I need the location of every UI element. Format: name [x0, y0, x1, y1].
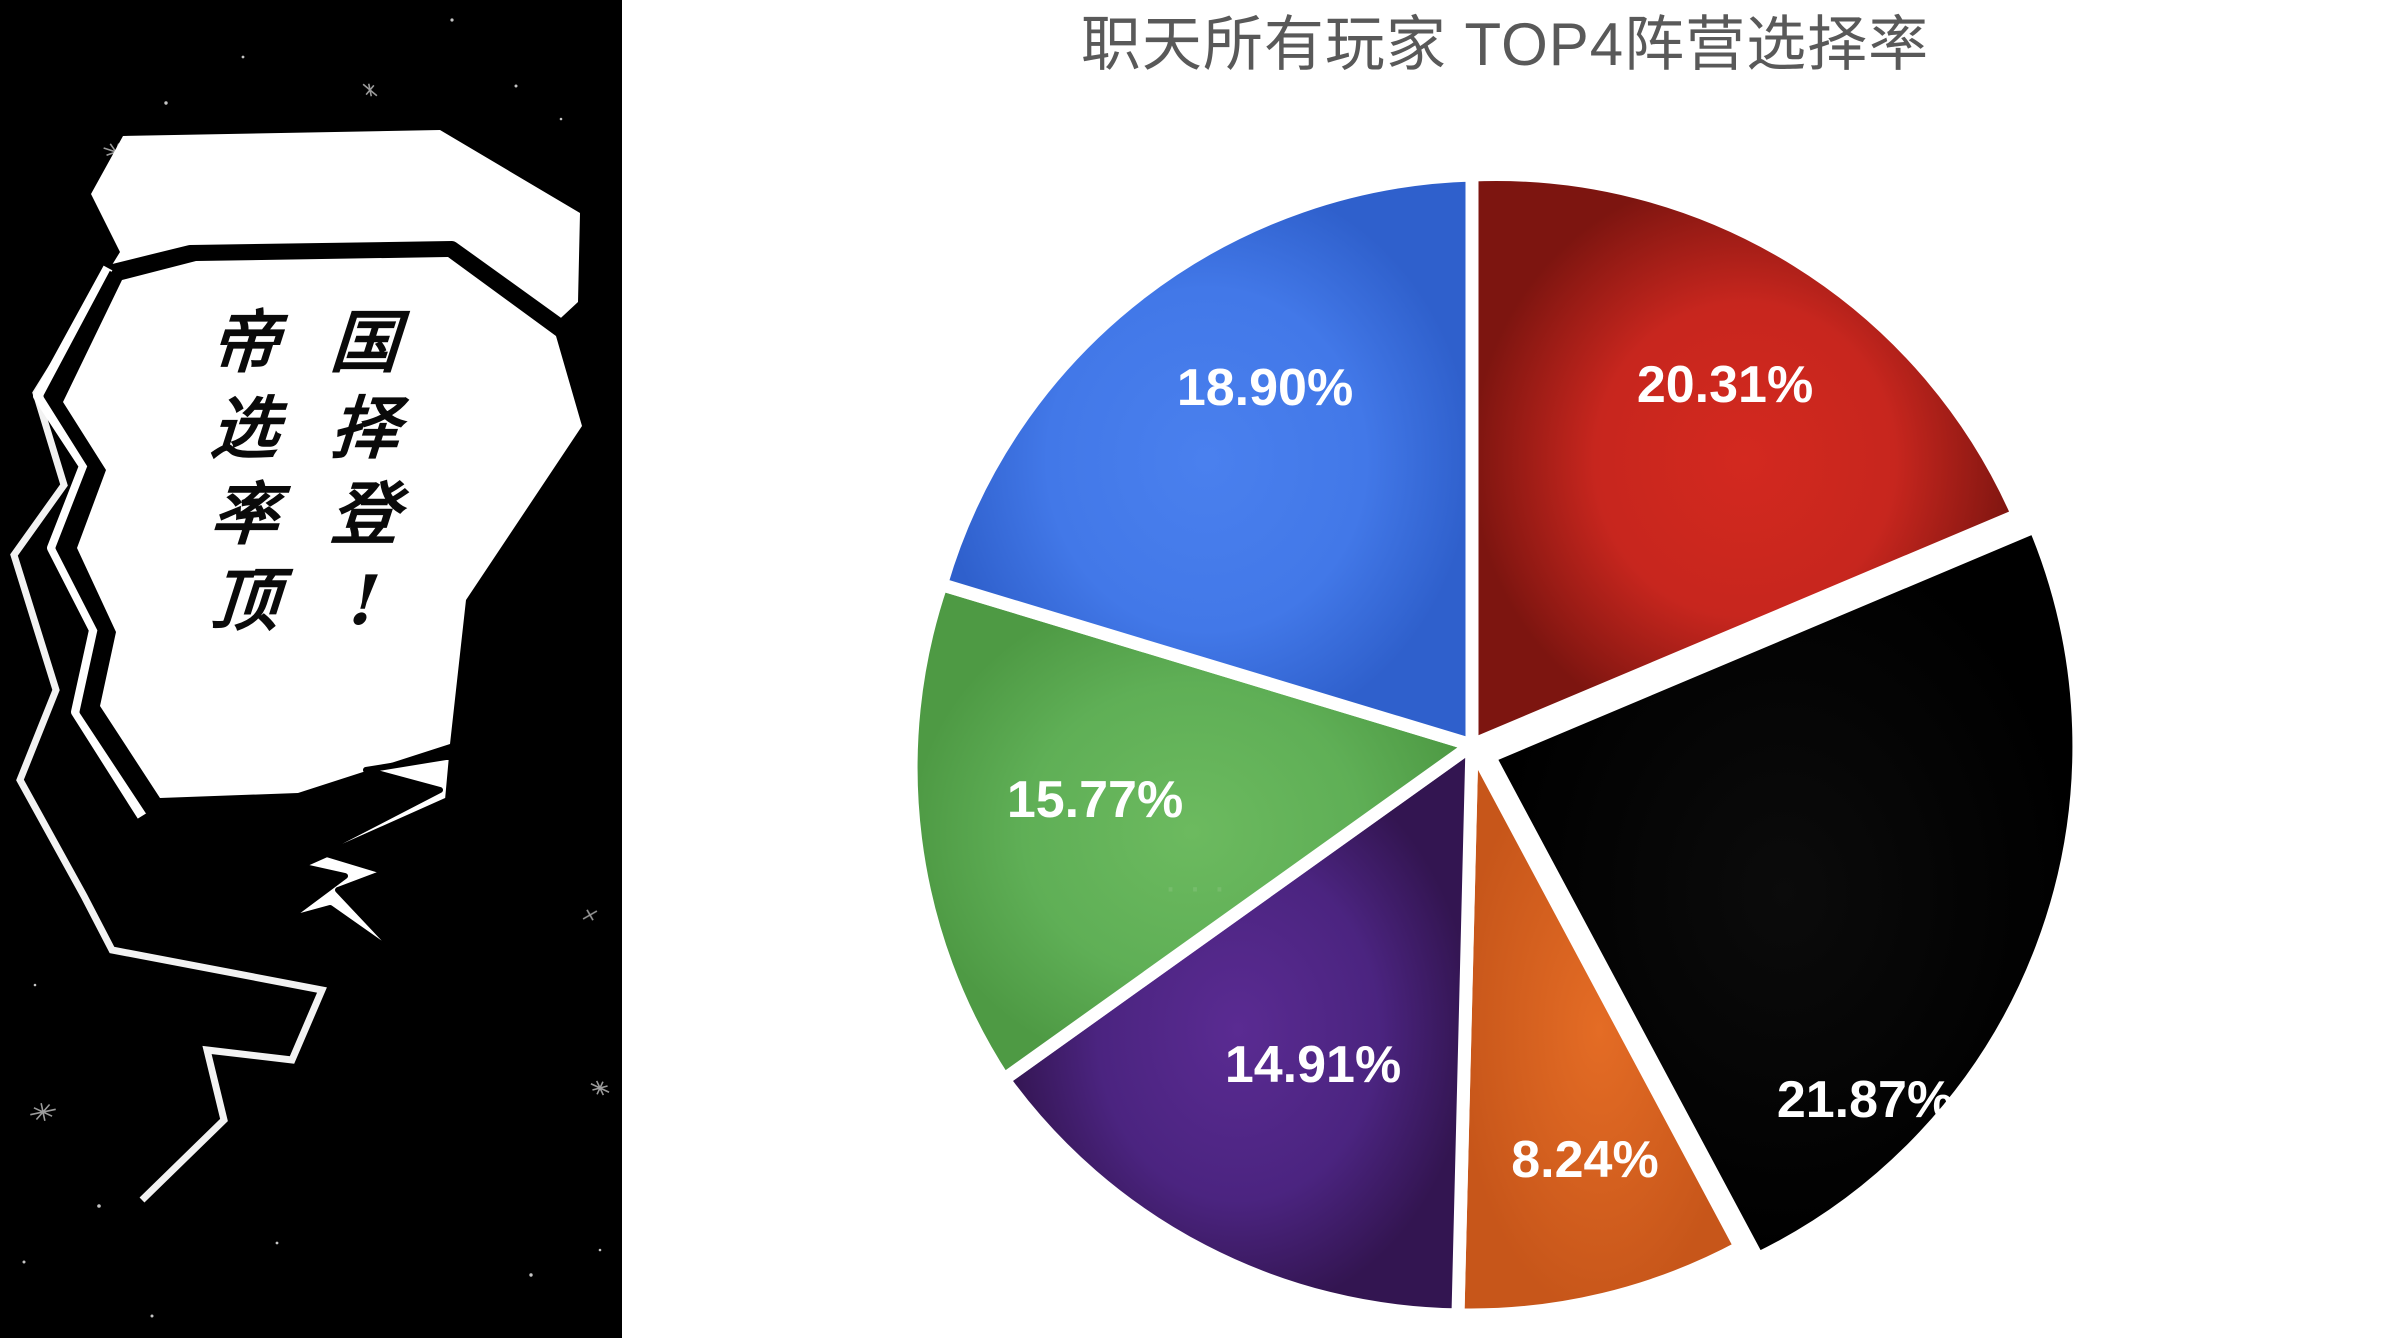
screenshot-root: 帝 国 选 择 率 登 顶 ! 职天所有玩家 TOP4阵营选择率: [0, 0, 2388, 1338]
pie-chart-svg: · · · 20.31% 21.87% 8.24% 14.91% 15.77% …: [865, 100, 2105, 1338]
bubble-char-6: 登: [329, 481, 402, 549]
left-image-panel: 帝 国 选 择 率 登 顶 !: [0, 0, 622, 1338]
bubble-char-7: 顶: [209, 567, 282, 635]
bubble-char-8: !: [348, 567, 383, 635]
speech-bubble: [0, 0, 622, 1338]
pie-label-blue: 18.90%: [1177, 359, 1353, 417]
pie-label-red: 20.31%: [1637, 356, 1813, 414]
chart-panel: 职天所有玩家 TOP4阵营选择率: [622, 0, 2388, 1338]
pie-chart: · · · 20.31% 21.87% 8.24% 14.91% 15.77% …: [865, 100, 2105, 1338]
pie-label-purple: 14.91%: [1225, 1036, 1401, 1094]
pie-label-green: 15.77%: [1007, 771, 1183, 829]
watermark-text: · · ·: [1164, 865, 1226, 909]
bubble-char-3: 选: [209, 395, 282, 463]
bubble-char-1: 帝: [209, 309, 282, 377]
page-title: 职天所有玩家 TOP4阵营选择率: [622, 0, 2388, 83]
pie-label-black: 21.87%: [1777, 1071, 1953, 1129]
speech-bubble-text: 帝 国 选 择 率 登 顶 !: [185, 300, 425, 644]
pie-label-orange: 8.24%: [1511, 1131, 1658, 1189]
bubble-char-4: 择: [329, 395, 402, 463]
bubble-char-5: 率: [209, 481, 282, 549]
bubble-char-2: 国: [329, 309, 402, 377]
